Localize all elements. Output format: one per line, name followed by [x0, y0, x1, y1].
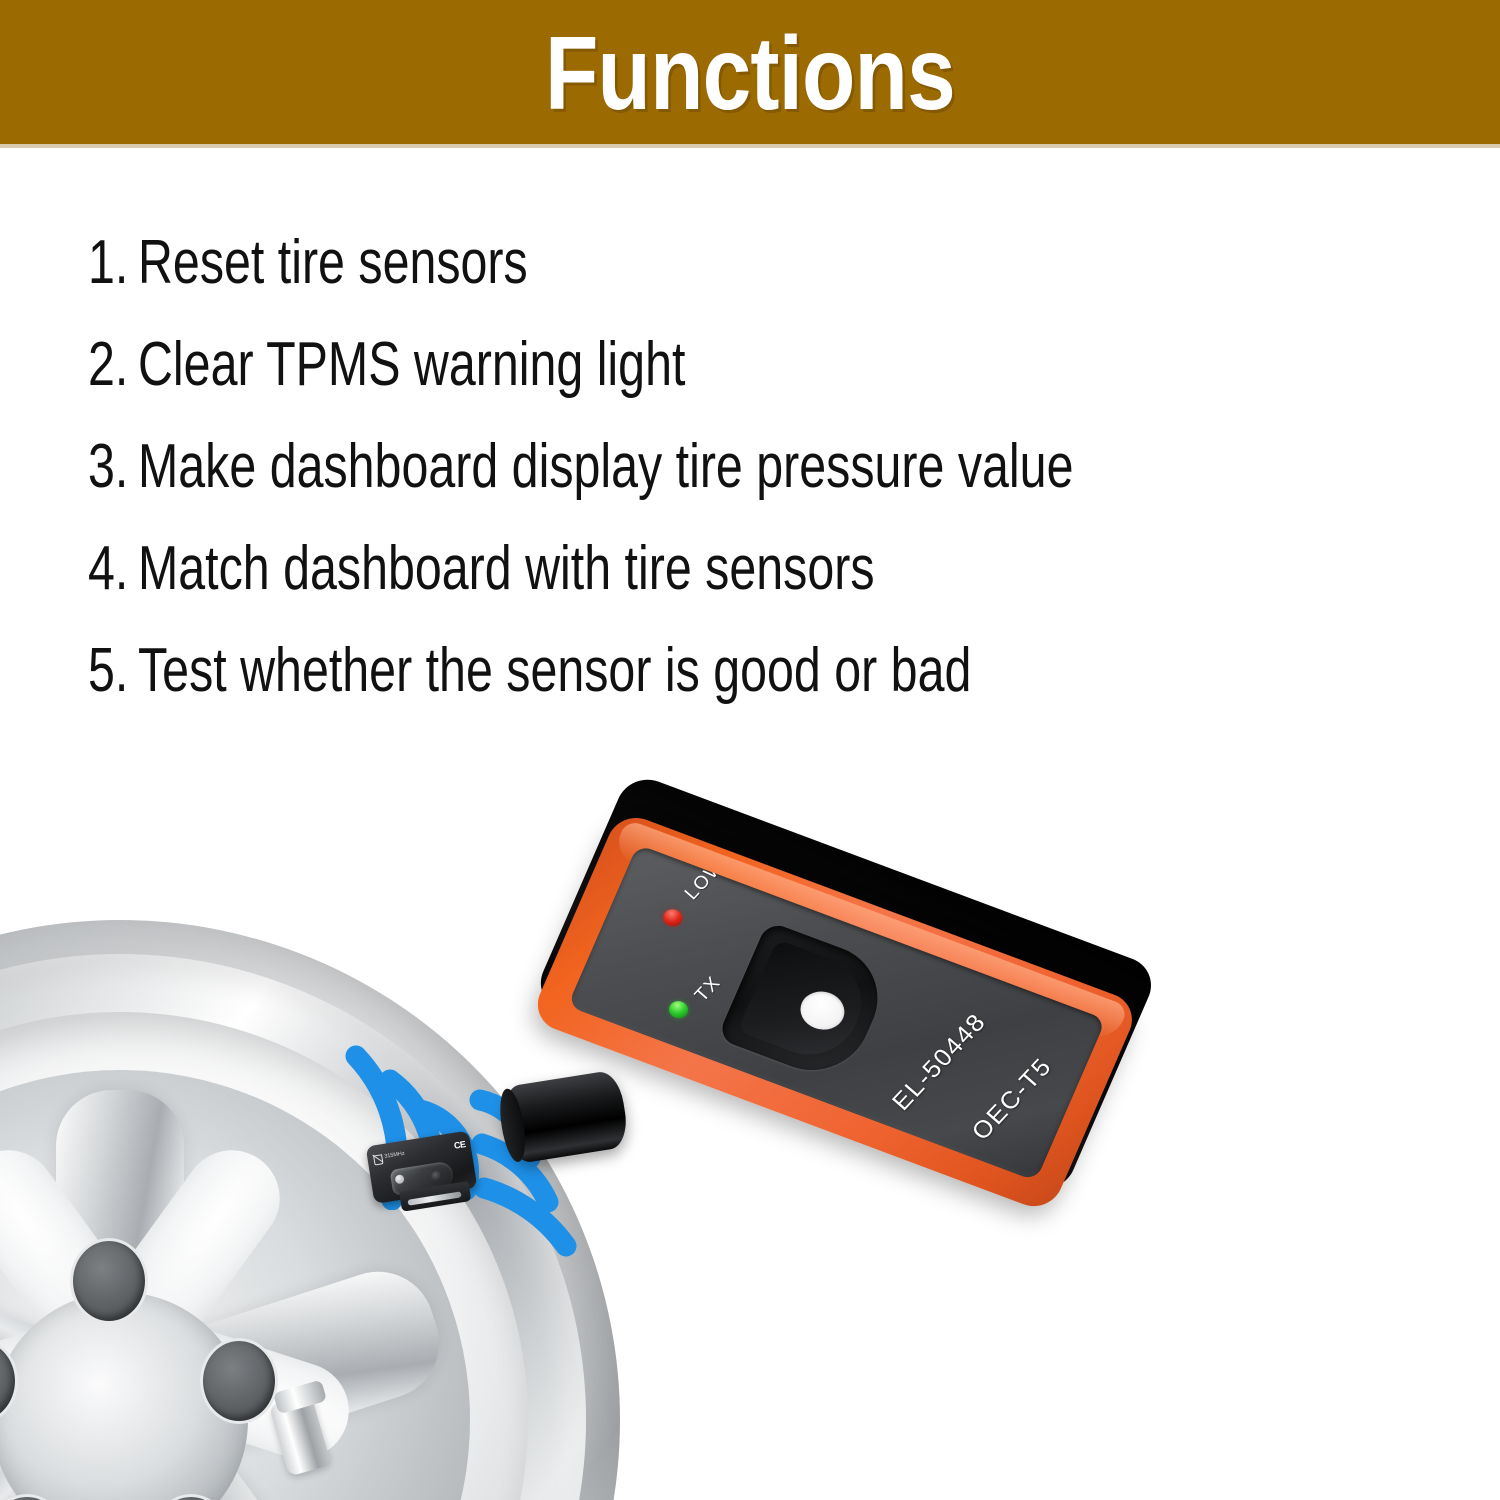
- device-faceplate: LOWBAT TX EL-50448 OEC-T5: [567, 844, 1106, 1181]
- lug-nut: [70, 1238, 148, 1324]
- list-item-text: Make dashboard display tire pressure val…: [138, 416, 1073, 518]
- list-item-number: 1.: [88, 212, 133, 314]
- list-item-text: Reset tire sensors: [138, 212, 528, 314]
- functions-list: 1. Reset tire sensors 2. Clear TPMS warn…: [88, 212, 1448, 722]
- device-body: LOWBAT TX EL-50448 OEC-T5: [528, 810, 1144, 1217]
- tpms-tire-sensor: 315MHz CE: [366, 1130, 483, 1235]
- list-item: 4. Match dashboard with tire sensors: [88, 518, 1448, 620]
- page-title: Functions: [545, 22, 955, 126]
- list-item: 3. Make dashboard display tire pressure …: [88, 416, 1448, 518]
- tpms-relearn-tool: LOWBAT TX EL-50448 OEC-T5: [560, 800, 1180, 1280]
- list-item: 5. Test whether the sensor is good or ba…: [88, 620, 1448, 722]
- list-item: 2. Clear TPMS warning light: [88, 314, 1448, 416]
- list-item-number: 3.: [88, 416, 133, 518]
- lug-nut: [200, 1338, 278, 1424]
- model-number-primary: EL-50448: [887, 1008, 992, 1116]
- crossed-out-wheelie-bin-icon: [372, 1152, 383, 1164]
- activate-button-hole: [794, 985, 850, 1035]
- tx-label: TX: [691, 973, 726, 1007]
- model-number-secondary: OEC-T5: [967, 1053, 1059, 1146]
- activate-button-inner: [737, 939, 876, 1068]
- tx-led: [666, 999, 691, 1021]
- activate-button[interactable]: [717, 921, 895, 1086]
- list-item-text: Match dashboard with tire sensors: [138, 518, 875, 620]
- list-item-number: 2.: [88, 314, 133, 416]
- list-item-number: 4.: [88, 518, 133, 620]
- list-item: 1. Reset tire sensors: [88, 212, 1448, 314]
- ce-mark-icon: CE: [453, 1139, 466, 1151]
- list-item-text: Clear TPMS warning light: [138, 314, 685, 416]
- banner-underline: [0, 144, 1500, 148]
- list-item-text: Test whether the sensor is good or bad: [138, 620, 971, 722]
- product-photo: 315MHz CE LOWBAT: [0, 760, 1500, 1500]
- lowbat-led: [660, 907, 685, 929]
- list-item-number: 5.: [88, 620, 133, 722]
- header-banner: Functions: [0, 0, 1500, 144]
- frequency-label: 315MHz: [384, 1151, 405, 1160]
- infographic-page: Functions 1. Reset tire sensors 2. Clear…: [0, 0, 1500, 1500]
